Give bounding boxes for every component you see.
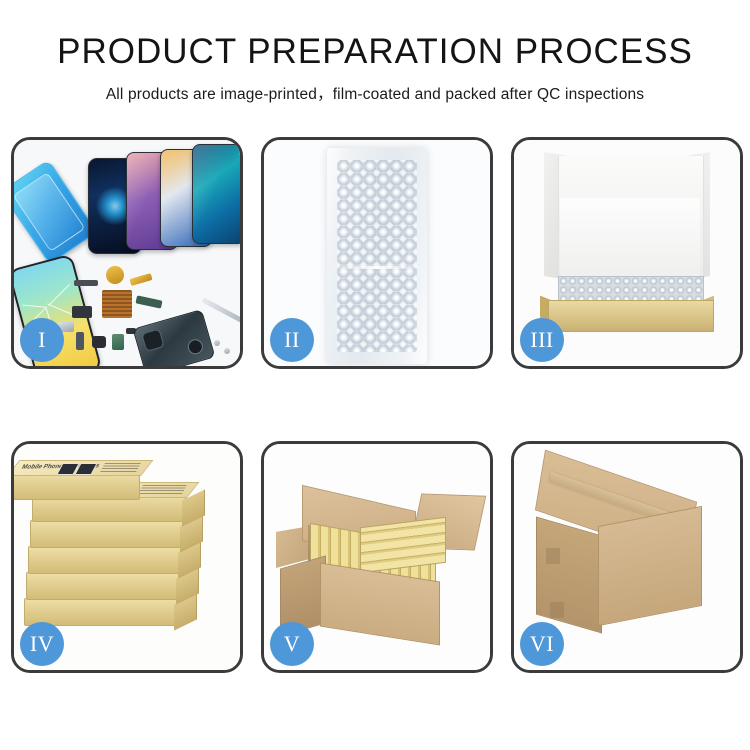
part-connector-icon <box>74 280 98 286</box>
part-chip-array-icon <box>102 290 132 318</box>
carton-handle-tab-2-icon <box>550 602 564 618</box>
process-step-panel-3[interactable]: III <box>511 137 743 369</box>
box-stack-icon: Mobile Phone Spare Parts Mobile Phone Sp… <box>20 468 240 648</box>
part-sim-tray-icon <box>76 332 84 350</box>
part-screw-2-icon <box>224 348 230 354</box>
page-subtitle: All products are image-printed，film-coat… <box>0 82 750 104</box>
step-badge-3: III <box>520 318 564 362</box>
step-badge-4: IV <box>20 622 64 666</box>
sealed-carton-left-face-icon <box>536 517 602 634</box>
step-badge-6: VI <box>520 622 564 666</box>
process-step-panel-2[interactable]: II <box>261 137 493 369</box>
process-step-grid: I II III <box>11 137 739 673</box>
phone-teal-icon <box>192 144 240 244</box>
step-badge-1: I <box>20 318 64 362</box>
page-header: PRODUCT PREPARATION PROCESS All products… <box>0 0 750 104</box>
page-title: PRODUCT PREPARATION PROCESS <box>0 34 750 71</box>
process-step-panel-5[interactable]: V <box>261 441 493 673</box>
box-spec-lines-icon <box>138 485 187 495</box>
box-spec-lines-2-icon <box>100 463 141 473</box>
part-speaker-icon <box>72 306 92 318</box>
part-battery-icon <box>112 334 124 350</box>
step-badge-2: II <box>270 318 314 362</box>
part-coil-icon <box>106 266 124 284</box>
step-badge-5: V <box>270 622 314 666</box>
box-front-panel-icon <box>548 300 714 332</box>
part-screw-icon <box>214 340 220 346</box>
sealed-carton-right-face-icon <box>598 506 702 626</box>
foam-sheet-icon <box>560 198 700 278</box>
part-vibrator-icon <box>92 336 106 348</box>
process-step-panel-4[interactable]: Mobile Phone Spare Parts Mobile Phone Sp… <box>11 441 243 673</box>
carton-handle-tab-icon <box>546 548 560 564</box>
process-step-panel-1[interactable]: I <box>11 137 243 369</box>
process-step-panel-6[interactable]: VI <box>511 441 743 673</box>
bubble-wrap-pouch-icon <box>327 148 427 364</box>
